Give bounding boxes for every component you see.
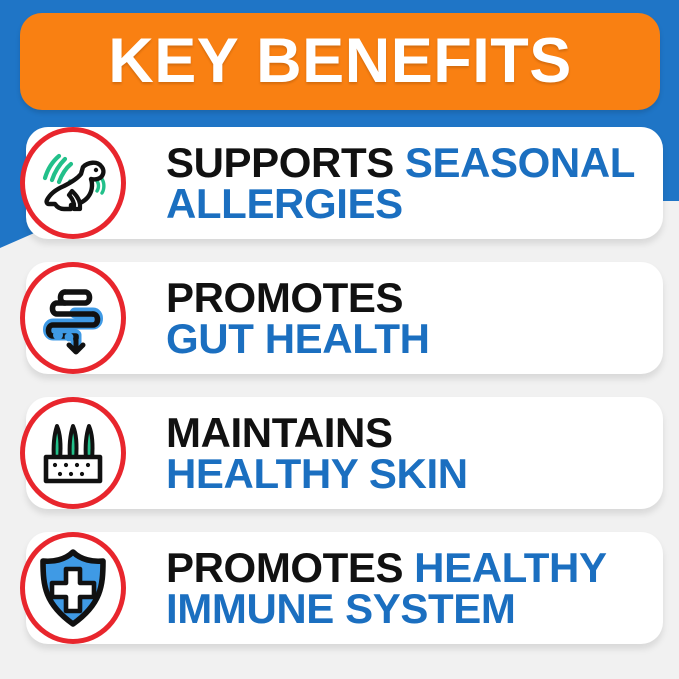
intestines-gut-icon <box>20 262 126 374</box>
scratching-dog-icon <box>20 127 126 239</box>
key-benefits-header-pill: KEY BENEFITS <box>20 13 660 110</box>
benefit-card-gut-health: PROMOTES GUT HEALTH <box>26 262 663 374</box>
benefit-line-2: HEALTHY SKIN <box>166 453 468 494</box>
benefit-text: MAINTAINS HEALTHY SKIN <box>166 412 482 494</box>
benefit-line-1: PROMOTESHEALTHY <box>166 547 607 588</box>
benefit-card-immune-system: PROMOTESHEALTHY IMMUNE SYSTEM <box>26 532 663 644</box>
benefit-text: SUPPORTSSEASONAL ALLERGIES <box>166 142 649 224</box>
benefit-card-healthy-skin: MAINTAINS HEALTHY SKIN <box>26 397 663 509</box>
shield-cross-icon <box>20 532 126 644</box>
benefit-line-1: PROMOTES <box>166 277 430 318</box>
benefit-line-2: ALLERGIES <box>166 183 635 224</box>
page-title: KEY BENEFITS <box>108 30 571 93</box>
benefit-line-2: IMMUNE SYSTEM <box>166 588 607 629</box>
benefit-line1-blue: HEALTHY <box>414 544 606 591</box>
skin-follicles-icon <box>20 397 126 509</box>
benefit-text: PROMOTES GUT HEALTH <box>166 277 444 359</box>
benefit-line-1: MAINTAINS <box>166 412 468 453</box>
benefit-line-2: GUT HEALTH <box>166 318 430 359</box>
benefit-line-1: SUPPORTSSEASONAL <box>166 142 635 183</box>
benefit-line1-dark: SUPPORTS <box>166 139 394 186</box>
benefit-line1-dark: PROMOTES <box>166 544 403 591</box>
benefit-text: PROMOTESHEALTHY IMMUNE SYSTEM <box>166 547 621 629</box>
benefit-card-seasonal-allergies: SUPPORTSSEASONAL ALLERGIES <box>26 127 663 239</box>
benefit-line1-blue: SEASONAL <box>405 139 635 186</box>
